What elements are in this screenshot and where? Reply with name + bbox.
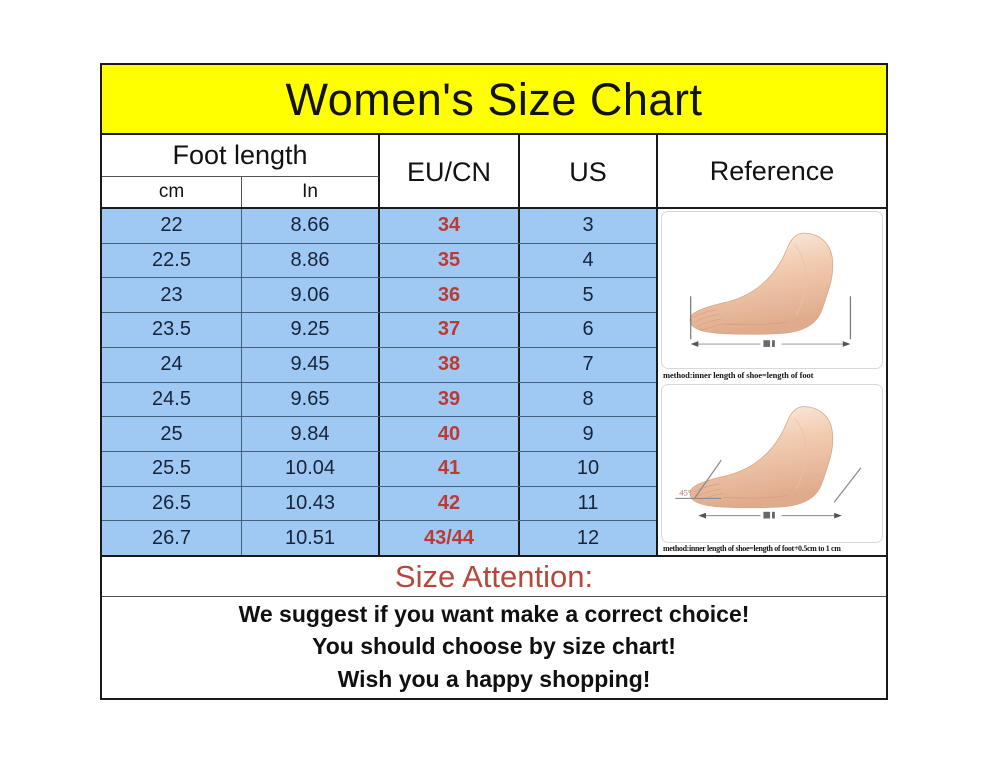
- cell-cm: 22: [102, 209, 242, 243]
- cell-us: 9: [520, 417, 656, 451]
- table-row: 26.710.5143/4412: [102, 521, 656, 555]
- cell-us: 12: [520, 521, 656, 555]
- page-title: Women's Size Chart: [286, 77, 703, 122]
- size-attention-heading: Size Attention:: [395, 559, 593, 595]
- cell-cm: 26.5: [102, 487, 242, 521]
- cell-cm: 23: [102, 278, 242, 312]
- cell-us: 4: [520, 244, 656, 278]
- table-row: 25.510.044110: [102, 452, 656, 487]
- reference-block-2: 45° method:inner length of shoe=length o…: [658, 382, 886, 555]
- cell-cm: 22.5: [102, 244, 242, 278]
- cell-us: 10: [520, 452, 656, 486]
- cell-cm: 25.5: [102, 452, 242, 486]
- size-attention-heading-row: Size Attention:: [102, 555, 886, 597]
- cell-eu: 36: [380, 278, 520, 312]
- size-rows-container: 228.6634322.58.86354239.0636523.59.25376…: [102, 209, 656, 555]
- cell-eu: 42: [380, 487, 520, 521]
- table-row: 23.59.25376: [102, 313, 656, 348]
- column-header-us-spacer: [520, 177, 656, 207]
- cell-us: 7: [520, 348, 656, 382]
- cell-in: 9.06: [242, 278, 380, 312]
- table-row: 26.510.434211: [102, 487, 656, 522]
- cell-us: 5: [520, 278, 656, 312]
- cell-eu: 40: [380, 417, 520, 451]
- cell-cm: 23.5: [102, 313, 242, 347]
- cell-us: 6: [520, 313, 656, 347]
- cell-us: 11: [520, 487, 656, 521]
- cell-in: 8.86: [242, 244, 380, 278]
- column-header-row-2: cm In: [102, 177, 656, 209]
- reference-body: method:inner length of shoe=length of fo…: [658, 209, 886, 555]
- size-attention-line: Wish you a happy shopping!: [338, 664, 651, 694]
- cell-eu: 34: [380, 209, 520, 243]
- foot-side-profile-icon: [661, 211, 883, 369]
- cell-eu: 43/44: [380, 521, 520, 555]
- table-row: 239.06365: [102, 278, 656, 313]
- cell-cm: 25: [102, 417, 242, 451]
- angle-label-45: 45°: [679, 488, 692, 498]
- cell-in: 9.25: [242, 313, 380, 347]
- cell-in: 8.66: [242, 209, 380, 243]
- size-chart-table: Women's Size Chart Foot length EU/CN US …: [100, 63, 888, 700]
- size-attention-line: We suggest if you want make a correct ch…: [239, 599, 750, 629]
- column-header-row-1: Foot length EU/CN US: [102, 135, 656, 177]
- cell-cm: 24.5: [102, 383, 242, 417]
- cell-in: 9.65: [242, 383, 380, 417]
- size-chart-page: Women's Size Chart Foot length EU/CN US …: [0, 0, 984, 762]
- cell-in: 10.04: [242, 452, 380, 486]
- table-row: 24.59.65398: [102, 383, 656, 418]
- column-header-in: In: [242, 177, 380, 207]
- column-header-eu-spacer: [380, 177, 520, 207]
- measurement-columns: Foot length EU/CN US cm In 228.6634322.5…: [102, 135, 656, 555]
- cell-cm: 26.7: [102, 521, 242, 555]
- table-row: 228.66343: [102, 209, 656, 244]
- cell-eu: 35: [380, 244, 520, 278]
- column-header-cm: cm: [102, 177, 242, 207]
- cell-eu: 37: [380, 313, 520, 347]
- table-row: 259.84409: [102, 417, 656, 452]
- table-row: 249.45387: [102, 348, 656, 383]
- cell-in: 10.43: [242, 487, 380, 521]
- cell-us: 8: [520, 383, 656, 417]
- cell-eu: 38: [380, 348, 520, 382]
- cell-in: 9.45: [242, 348, 380, 382]
- foot-side-profile-angled-icon: 45°: [661, 384, 883, 543]
- table-row: 22.58.86354: [102, 244, 656, 279]
- reference-caption-1: method:inner length of shoe=length of fo…: [661, 369, 883, 382]
- chart-grid-region: Foot length EU/CN US cm In 228.6634322.5…: [102, 135, 886, 555]
- size-attention-line: You should choose by size chart!: [312, 631, 676, 661]
- column-header-reference: Reference: [658, 135, 886, 209]
- cell-eu: 41: [380, 452, 520, 486]
- cell-in: 9.84: [242, 417, 380, 451]
- size-attention-body: We suggest if you want make a correct ch…: [102, 597, 886, 698]
- cell-cm: 24: [102, 348, 242, 382]
- reference-block-1: method:inner length of shoe=length of fo…: [658, 209, 886, 382]
- reference-column: Reference: [656, 135, 886, 555]
- cell-eu: 39: [380, 383, 520, 417]
- column-header-foot-length: Foot length: [102, 135, 380, 177]
- chart-title-bar: Women's Size Chart: [102, 65, 886, 135]
- reference-caption-2: method:inner length of shoe=length of fo…: [661, 543, 883, 555]
- cell-in: 10.51: [242, 521, 380, 555]
- cell-us: 3: [520, 209, 656, 243]
